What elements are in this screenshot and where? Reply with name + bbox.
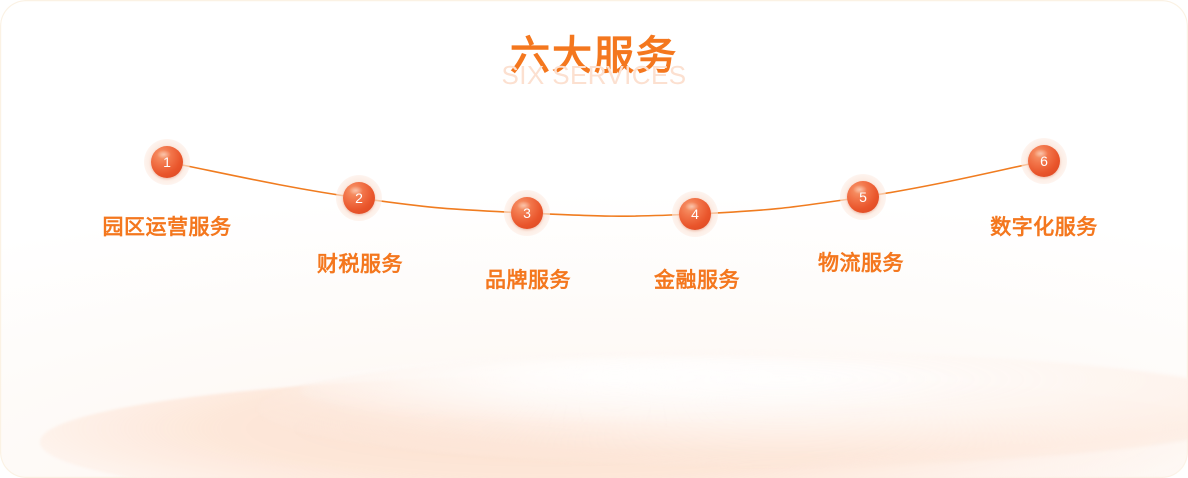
node-marker-1[interactable]: 1 (144, 139, 190, 185)
service-label-digitalization[interactable]: 数字化服务 (990, 217, 1098, 238)
node-number-3: 3 (523, 206, 531, 220)
platform-ellipse-front (258, 352, 1188, 466)
node-marker-6[interactable]: 6 (1021, 138, 1067, 184)
node-circle-2: 2 (343, 182, 375, 214)
node-number-5: 5 (859, 190, 867, 204)
service-label-brand[interactable]: 品牌服务 (485, 270, 571, 291)
node-circle-1: 1 (151, 146, 183, 178)
node-marker-3[interactable]: 3 (504, 190, 550, 236)
node-circle-6: 6 (1028, 145, 1060, 177)
service-label-fiscal-tax[interactable]: 财税服务 (317, 254, 403, 275)
service-label-logistics[interactable]: 物流服务 (818, 253, 904, 274)
node-marker-4[interactable]: 4 (672, 191, 718, 237)
platform-ellipse-highlight (300, 356, 1000, 426)
node-circle-4: 4 (679, 198, 711, 230)
node-marker-2[interactable]: 2 (336, 175, 382, 221)
page-title-group: 六大服务 SIX SERVICES (0, 36, 1188, 88)
service-label-park-operation[interactable]: 园区运营服务 (103, 217, 232, 238)
node-marker-5[interactable]: 5 (840, 174, 886, 220)
node-number-4: 4 (691, 207, 699, 221)
node-number-6: 6 (1040, 154, 1048, 168)
node-circle-3: 3 (511, 197, 543, 229)
service-label-finance[interactable]: 金融服务 (654, 270, 740, 291)
node-circle-5: 5 (847, 181, 879, 213)
page-subtitle: SIX SERVICES (0, 62, 1188, 88)
node-number-2: 2 (355, 191, 363, 205)
platform-ellipse-back (40, 374, 1188, 478)
six-services-infographic: 六大服务 SIX SERVICES 1 2 3 4 5 6 园区运营服务 (0, 0, 1188, 478)
node-number-1: 1 (163, 155, 171, 169)
